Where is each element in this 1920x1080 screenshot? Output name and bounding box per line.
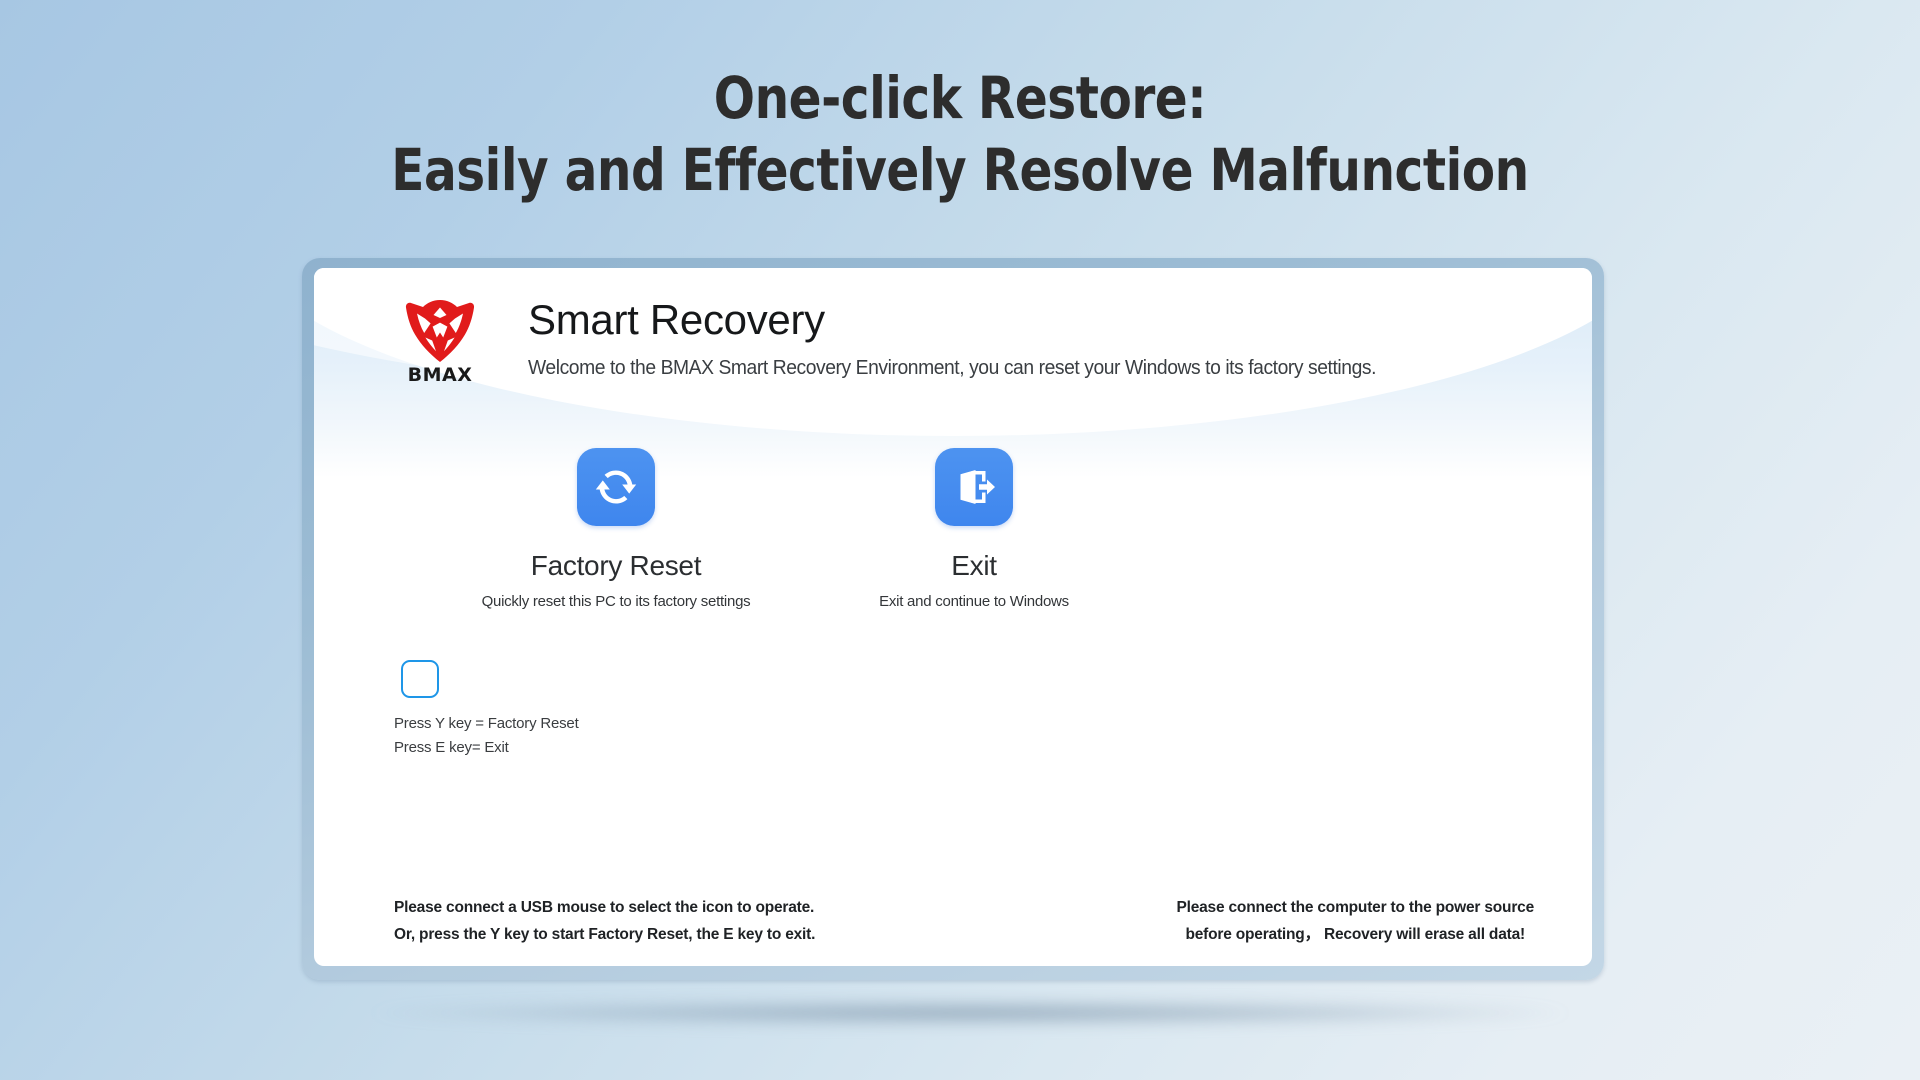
bmax-beast-mask-icon: BMAX bbox=[402, 296, 478, 382]
refresh-sync-icon[interactable] bbox=[577, 448, 655, 526]
footer-left-line-2: Or, press the Y key to start Factory Res… bbox=[394, 921, 815, 948]
factory-reset-description: Quickly reset this PC to its factory set… bbox=[466, 593, 766, 610]
recovery-app-screen: BMAX Smart Recovery Welcome to the BMAX … bbox=[314, 268, 1592, 966]
page-title-line-2: Easily and Effectively Resolve Malfuncti… bbox=[67, 134, 1853, 206]
exit-door-arrow-icon[interactable] bbox=[935, 448, 1013, 526]
page-title-line-1: One-click Restore: bbox=[714, 64, 1206, 132]
footer-note-power: Please connect the computer to the power… bbox=[1176, 894, 1534, 948]
app-subtitle: Welcome to the BMAX Smart Recovery Envir… bbox=[528, 357, 1376, 380]
monitor-frame: BMAX Smart Recovery Welcome to the BMAX … bbox=[302, 258, 1604, 980]
factory-reset-label: Factory Reset bbox=[466, 550, 766, 582]
brand-wordmark: BMAX bbox=[402, 364, 478, 386]
key-hint-factory-reset: Press Y key = Factory Reset bbox=[394, 712, 579, 736]
app-title: Smart Recovery bbox=[528, 294, 1407, 346]
footer-note-mouse: Please connect a USB mouse to select the… bbox=[394, 894, 815, 948]
footer-right-line-2: before operating， Recovery will erase al… bbox=[1176, 921, 1534, 948]
exit-button[interactable]: Exit Exit and continue to Windows bbox=[824, 448, 1124, 610]
exit-description: Exit and continue to Windows bbox=[824, 593, 1124, 610]
factory-reset-button[interactable]: Factory Reset Quickly reset this PC to i… bbox=[466, 448, 766, 610]
key-hint-exit: Press E key= Exit bbox=[394, 736, 579, 760]
key-hints: Press Y key = Factory Reset Press E key=… bbox=[394, 712, 579, 760]
exit-label: Exit bbox=[824, 550, 1124, 582]
selection-focus-box[interactable] bbox=[401, 660, 439, 698]
footer-right-line-1: Please connect the computer to the power… bbox=[1176, 894, 1534, 921]
footer-left-line-1: Please connect a USB mouse to select the… bbox=[394, 894, 815, 921]
page-title: One-click Restore: Easily and Effectivel… bbox=[67, 62, 1853, 206]
app-header: BMAX Smart Recovery Welcome to the BMAX … bbox=[402, 292, 1407, 382]
device-drop-shadow bbox=[370, 1000, 1570, 1026]
